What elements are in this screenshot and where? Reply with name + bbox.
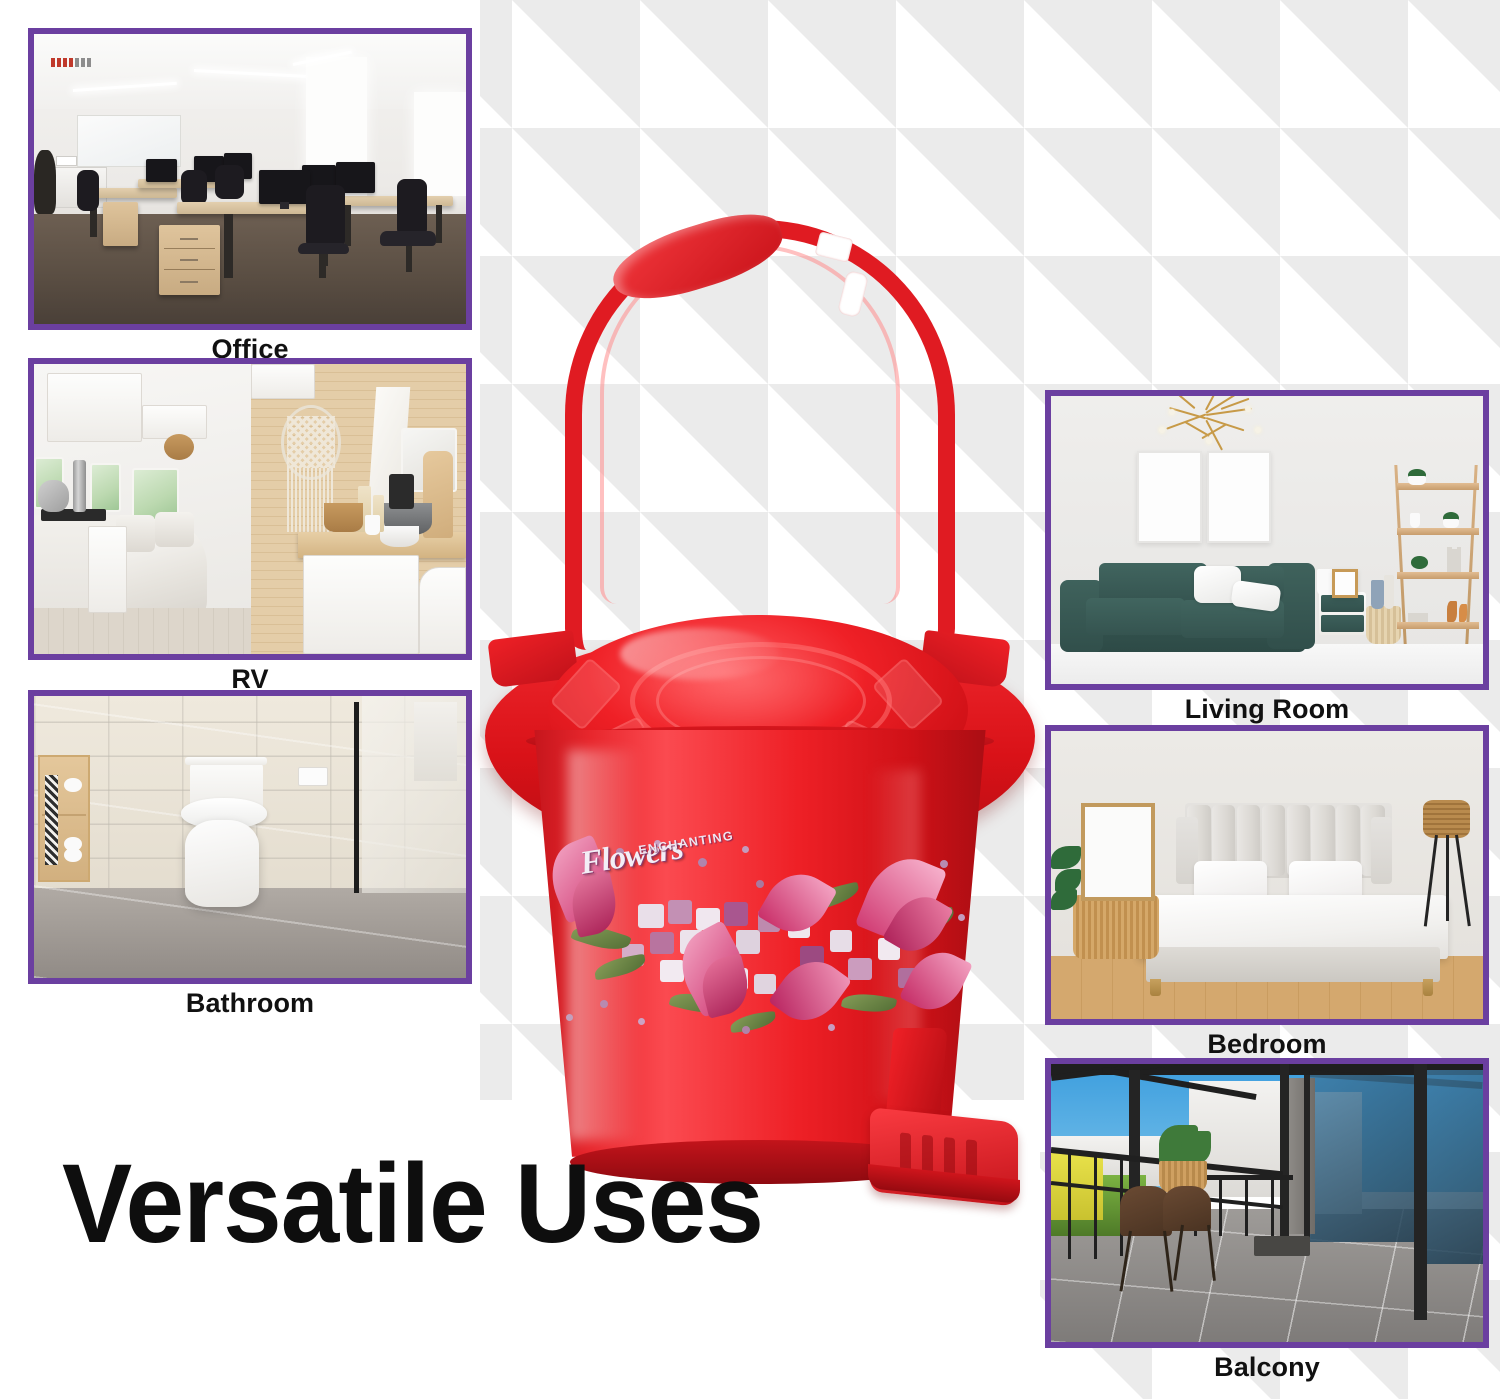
product-brand-small: ENCHANTING — [637, 829, 734, 858]
bathroom-photo — [28, 690, 472, 984]
product-image-pedal-dustbin: Flowers ENCHANTING — [470, 210, 1050, 1070]
lid-highlight — [620, 628, 780, 680]
card-label-bedroom: Bedroom — [1045, 1029, 1489, 1060]
balcony-photo — [1045, 1058, 1489, 1348]
card-label-bathroom: Bathroom — [28, 988, 472, 1019]
use-case-card-balcony: Balcony — [1045, 1058, 1489, 1348]
use-case-card-bathroom: Bathroom — [28, 690, 472, 984]
use-case-card-rv: RV — [28, 358, 472, 660]
use-case-card-bedroom: Bedroom — [1045, 725, 1489, 1025]
bedroom-photo — [1045, 725, 1489, 1025]
use-case-card-office: Office — [28, 28, 472, 330]
living-room-photo — [1045, 390, 1489, 690]
card-label-living-room: Living Room — [1045, 694, 1489, 725]
use-case-card-living-room: Living Room — [1045, 390, 1489, 690]
page-title: Versatile Uses — [62, 1148, 763, 1260]
rv-photo — [28, 358, 472, 660]
card-label-balcony: Balcony — [1045, 1352, 1489, 1383]
floral-decal: Flowers ENCHANTING — [542, 818, 974, 1038]
office-photo — [28, 28, 472, 330]
flower-petal — [899, 942, 973, 1021]
